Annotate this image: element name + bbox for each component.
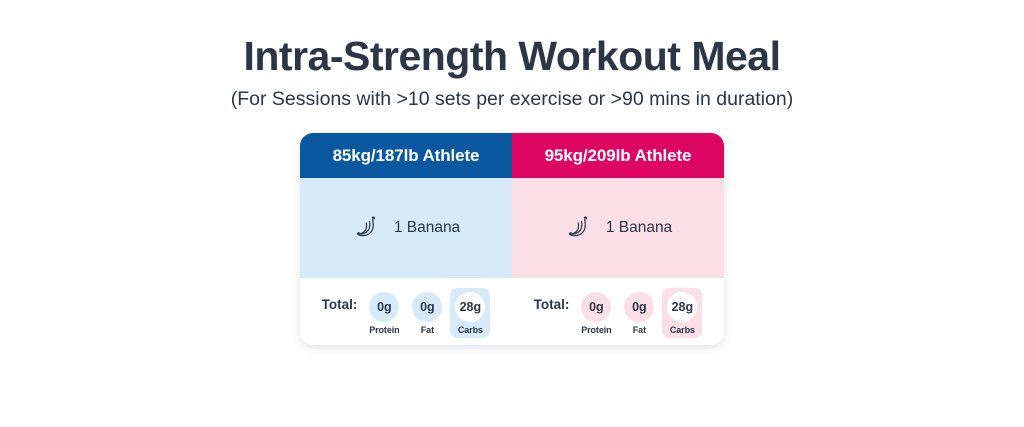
macro-carbs: 28g Carbs <box>662 288 702 338</box>
total-label: Total: <box>534 297 570 312</box>
macro-name: Carbs <box>458 325 483 335</box>
infographic-page: Intra-Strength Workout Meal (For Session… <box>0 0 1024 427</box>
table-footer-row: Total: 0g Protein 0g Fat 28g Carbs <box>300 278 724 345</box>
banana-icon <box>564 213 594 243</box>
macro-name: Fat <box>633 325 646 335</box>
food-label: 1 Banana <box>606 219 672 237</box>
banana-icon <box>352 213 382 243</box>
column-header-label: 95kg/209lb Athlete <box>545 146 692 166</box>
food-cell-85kg: 1 Banana <box>300 178 512 278</box>
macro-value-bubble: 28g <box>455 292 485 322</box>
macro-protein: 0g Protein <box>364 288 404 338</box>
totals-cell-95kg: Total: 0g Protein 0g Fat 28g Carbs <box>512 278 724 345</box>
macro-fat: 0g Fat <box>407 288 447 338</box>
table-header-row: 85kg/187lb Athlete 95kg/209lb Athlete <box>300 133 724 178</box>
table-body-row: 1 Banana 1 Banana <box>300 178 724 278</box>
macro-group: 0g Protein 0g Fat 28g Carbs <box>364 288 490 338</box>
macro-protein: 0g Protein <box>576 288 616 338</box>
meal-table-card: 85kg/187lb Athlete 95kg/209lb Athlete 1 … <box>300 133 724 345</box>
macro-value-bubble: 28g <box>667 292 697 322</box>
macro-group: 0g Protein 0g Fat 28g Carbs <box>576 288 702 338</box>
heading-block: Intra-Strength Workout Meal (For Session… <box>0 34 1024 111</box>
macro-value-bubble: 0g <box>581 292 611 322</box>
totals-cell-85kg: Total: 0g Protein 0g Fat 28g Carbs <box>300 278 512 345</box>
column-header-label: 85kg/187lb Athlete <box>333 146 480 166</box>
macro-value-bubble: 0g <box>624 292 654 322</box>
macro-value-bubble: 0g <box>412 292 442 322</box>
food-cell-95kg: 1 Banana <box>512 178 724 278</box>
macro-name: Fat <box>421 325 434 335</box>
column-header-85kg: 85kg/187lb Athlete <box>300 133 512 178</box>
page-subtitle: (For Sessions with >10 sets per exercise… <box>0 88 1024 111</box>
macro-carbs: 28g Carbs <box>450 288 490 338</box>
page-title: Intra-Strength Workout Meal <box>0 34 1024 80</box>
total-label: Total: <box>322 297 358 312</box>
column-header-95kg: 95kg/209lb Athlete <box>512 133 724 178</box>
macro-name: Carbs <box>670 325 695 335</box>
macro-fat: 0g Fat <box>619 288 659 338</box>
macro-value-bubble: 0g <box>369 292 399 322</box>
food-label: 1 Banana <box>394 219 460 237</box>
macro-name: Protein <box>369 325 399 335</box>
macro-name: Protein <box>581 325 611 335</box>
